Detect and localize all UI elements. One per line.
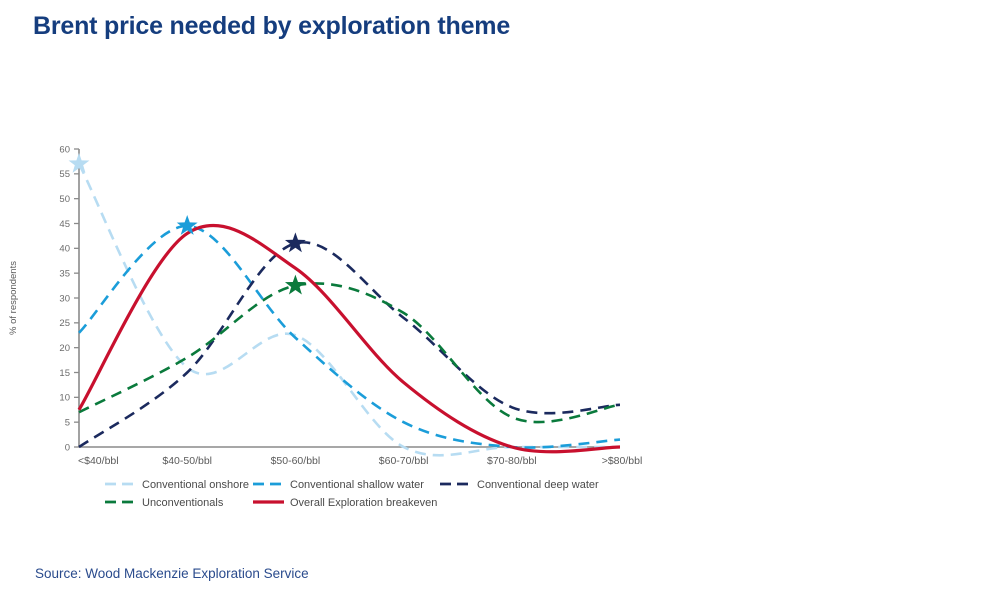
y-tick-label: 15 (59, 368, 70, 379)
chart-container: 051015202530354045505560 <$40/bbl$40-50/… (0, 130, 660, 530)
x-tick-label: >$80/bbl (602, 455, 643, 467)
y-tick-label: 20 (59, 343, 70, 354)
x-tick-label: <$40/bbl (78, 455, 119, 467)
legend-label: Conventional onshore (142, 479, 249, 491)
legend-item-conventional-onshore[interactable]: Conventional onshore (105, 479, 249, 491)
legend-label: Unconventionals (142, 497, 224, 509)
y-tick-label: 60 (59, 144, 70, 155)
legend-item-overall-exploration-breakeven[interactable]: Overall Exploration breakeven (253, 497, 437, 509)
series-lines (79, 164, 620, 455)
x-tick-label: $40-50/bbl (162, 455, 212, 467)
y-tick-label: 25 (59, 318, 70, 329)
x-tick-label: $70-80/bbl (487, 455, 537, 467)
legend-label: Conventional deep water (477, 479, 599, 491)
chart-legend: Conventional onshoreConventional shallow… (105, 479, 599, 509)
x-tick-label: $60-70/bbl (379, 455, 429, 467)
y-tick-label: 0 (65, 442, 70, 453)
y-tick-label: 40 (59, 244, 70, 255)
y-tick-label: 35 (59, 269, 70, 280)
y-tick-label: 50 (59, 194, 70, 205)
legend-item-conventional-deep-water[interactable]: Conventional deep water (440, 479, 599, 491)
y-axis-title: % of respondents (8, 261, 19, 335)
y-tick-label: 30 (59, 293, 70, 304)
legend-item-conventional-shallow-water[interactable]: Conventional shallow water (253, 479, 424, 491)
series-markers (69, 153, 306, 295)
series-line-overall-exploration-breakeven (79, 225, 620, 451)
series-line-conventional-onshore (79, 164, 620, 455)
series-line-conventional-shallow-water (79, 226, 620, 448)
legend-label: Overall Exploration breakeven (290, 497, 437, 509)
y-tick-label: 55 (59, 169, 70, 180)
legend-item-unconventionals[interactable]: Unconventionals (105, 497, 224, 509)
source-note: Source: Wood Mackenzie Exploration Servi… (35, 566, 309, 581)
x-tick-label: $50-60/bbl (271, 455, 321, 467)
peak-star-marker-unconventionals (285, 275, 306, 295)
y-tick-label: 10 (59, 393, 70, 404)
series-line-unconventionals (79, 283, 620, 422)
exploration-theme-line-chart: 051015202530354045505560 <$40/bbl$40-50/… (0, 130, 660, 530)
series-line-conventional-deep-water (79, 242, 620, 447)
page-title: Brent price needed by exploration theme (33, 12, 510, 41)
legend-label: Conventional shallow water (290, 479, 424, 491)
y-axis-ticks: 051015202530354045505560 (59, 144, 79, 453)
peak-star-marker-conventional-deep-water (285, 232, 306, 252)
x-axis-ticks: <$40/bbl$40-50/bbl$50-60/bbl$60-70/bbl$7… (78, 455, 642, 467)
y-tick-label: 5 (65, 418, 70, 429)
y-tick-label: 45 (59, 219, 70, 230)
